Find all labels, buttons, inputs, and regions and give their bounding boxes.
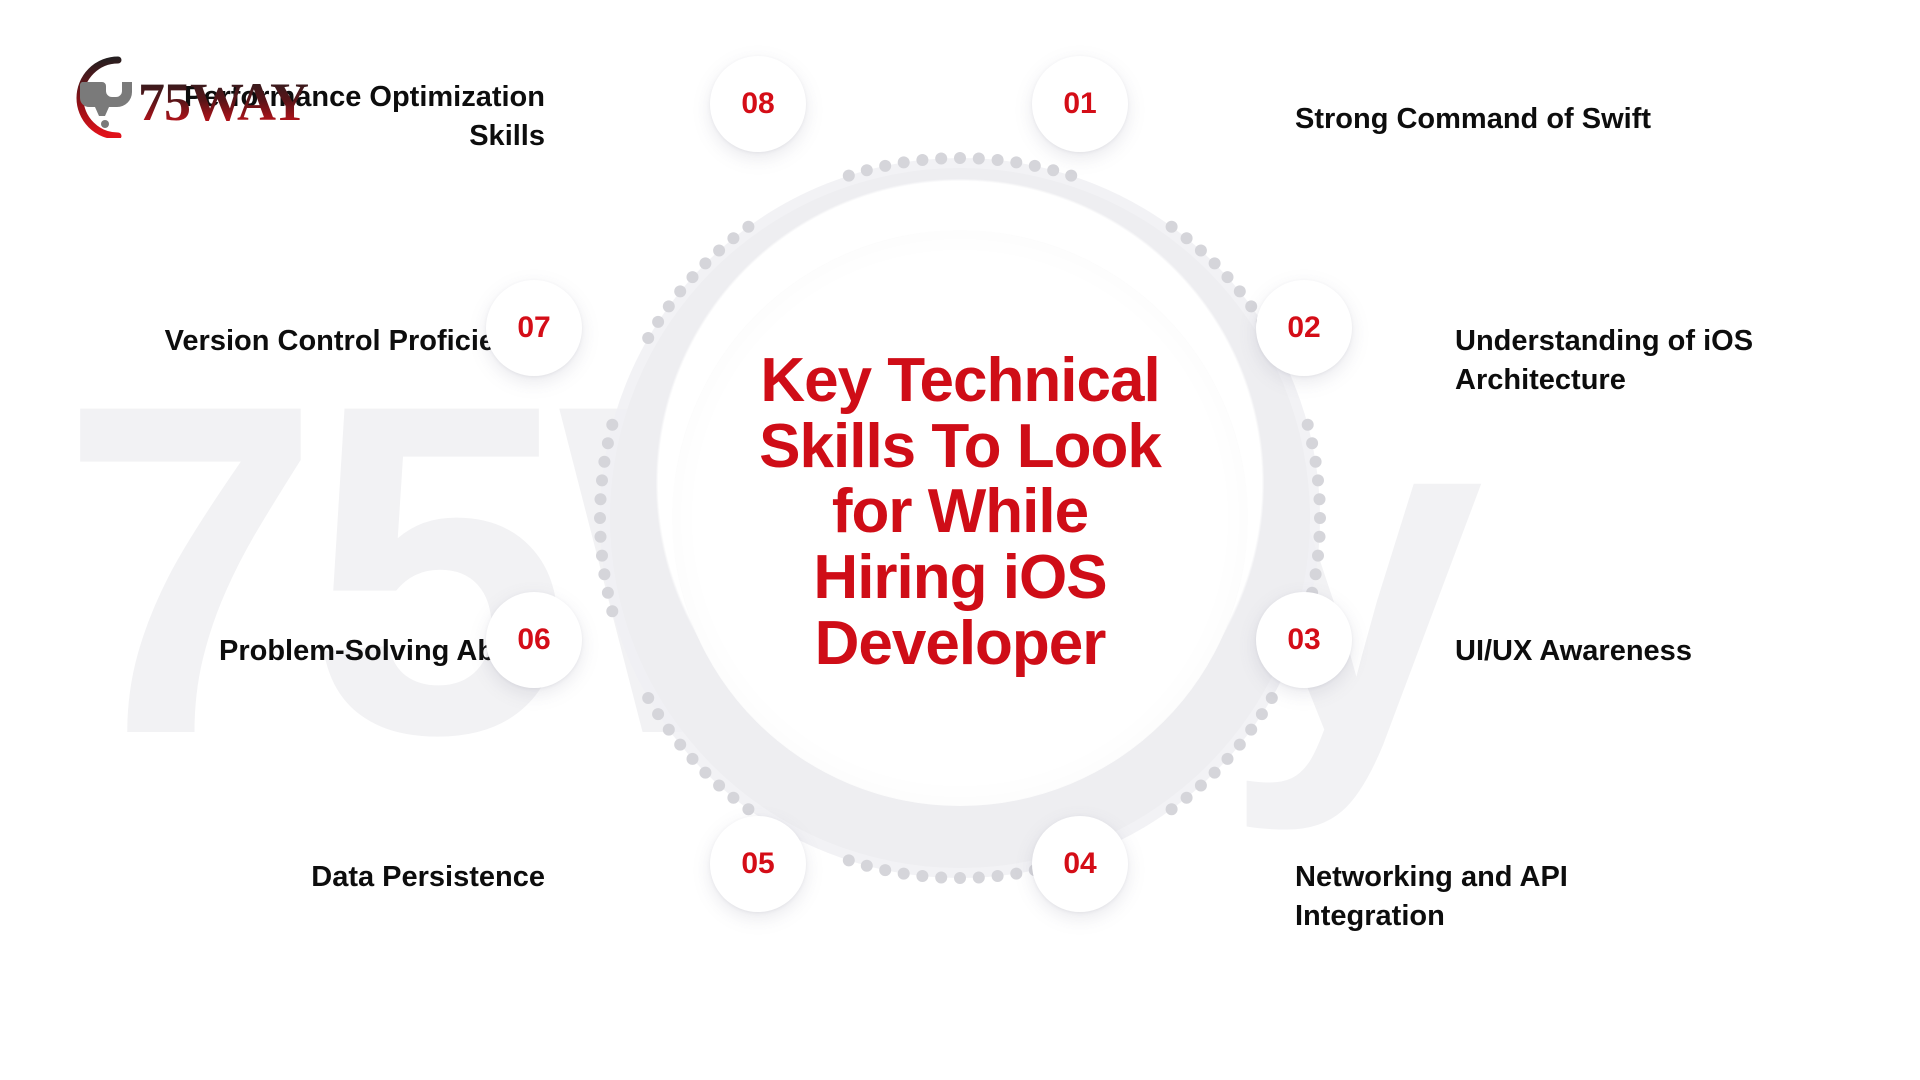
- step-badge-05[interactable]: 05: [710, 816, 806, 912]
- step-label-05: Data Persistence: [125, 858, 545, 897]
- center-title-line: for While: [690, 479, 1230, 545]
- step-badge-02[interactable]: 02: [1256, 280, 1352, 376]
- center-title-line: Hiring iOS: [690, 545, 1230, 611]
- center-title-line: Key Technical: [690, 348, 1230, 414]
- step-label-04: Networking and API Integration: [1295, 858, 1695, 935]
- step-label-03: UI/UX Awareness: [1455, 632, 1705, 671]
- infographic-canvas: 75Way: [0, 0, 1920, 1080]
- step-badge-04[interactable]: 04: [1032, 816, 1128, 912]
- step-badge-08[interactable]: 08: [710, 56, 806, 152]
- step-label-01: Strong Command of Swift: [1295, 100, 1695, 139]
- step-badge-03[interactable]: 03: [1256, 592, 1352, 688]
- brand-logo[interactable]: 75WAY: [52, 48, 352, 138]
- center-title-line: Developer: [690, 611, 1230, 677]
- step-label-06: Problem-Solving Ability: [125, 632, 545, 671]
- center-title: Key TechnicalSkills To Lookfor WhileHiri…: [690, 348, 1230, 677]
- center-title-line: Skills To Look: [690, 414, 1230, 480]
- step-label-07: Version Control Proficiency: [125, 322, 545, 361]
- step-badge-07[interactable]: 07: [486, 280, 582, 376]
- step-label-02: Understanding of iOS Architecture: [1455, 322, 1855, 399]
- svg-text:75WAY: 75WAY: [138, 72, 308, 132]
- step-badge-01[interactable]: 01: [1032, 56, 1128, 152]
- step-badge-06[interactable]: 06: [486, 592, 582, 688]
